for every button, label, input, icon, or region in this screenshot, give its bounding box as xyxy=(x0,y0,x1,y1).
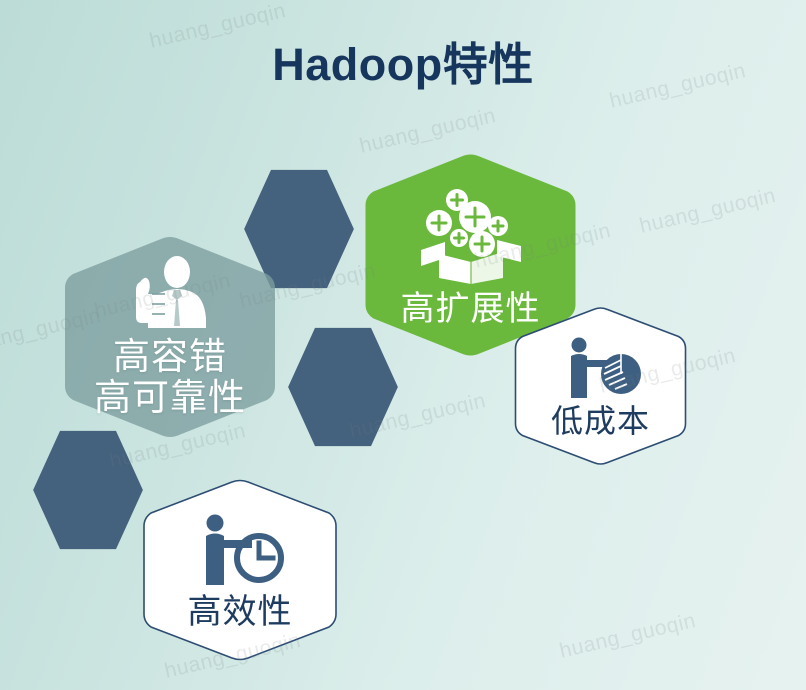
page-title: Hadoop特性 xyxy=(0,28,806,93)
open-box-plus-icon xyxy=(415,182,527,286)
thumbs-up-person-icon xyxy=(118,256,222,330)
feature-card-low-cost[interactable]: 低成本 xyxy=(519,297,682,475)
feature-label-fault-tolerance: 高容错 高可靠性 xyxy=(94,336,246,419)
watermark-text: huang_guoqin xyxy=(637,184,778,239)
feature-card-efficiency[interactable]: 高效性 xyxy=(146,470,334,670)
deco-hex-bottom-left xyxy=(32,429,144,551)
feature-card-fault-tolerance[interactable]: 高容错 高可靠性 xyxy=(68,228,272,446)
slide-canvas: 高容错 高可靠性 xyxy=(0,0,806,690)
person-clock-icon xyxy=(189,513,291,589)
person-pie-chart-icon xyxy=(555,336,647,402)
watermark-text: huang_guoqin xyxy=(557,609,698,664)
feature-label-efficiency: 高效性 xyxy=(188,593,293,631)
feature-label-low-cost: 低成本 xyxy=(551,404,650,440)
